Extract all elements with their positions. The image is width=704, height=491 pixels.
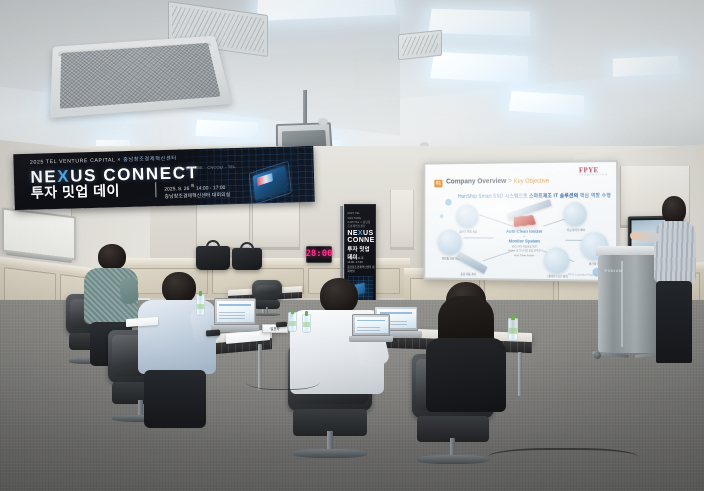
slide-headline-kr: 스마트제조 IT 솔루션의 [529,193,578,199]
banner-top-en: 2025 TEL VENTURE CAPITAL [30,157,115,165]
presenter-head [662,196,686,224]
presenter-legs [656,281,692,363]
smartphone-on-table[interactable] [206,330,220,337]
slide-core-block: Auto Clean Ionizer + Monitor System ESD … [489,214,559,258]
projector-mount-stem [303,90,307,126]
attendee-4 [424,282,508,422]
slide-core-detail3: Auto Clean Ionizer [489,254,559,258]
water-bottle-4[interactable] [508,318,518,341]
slide-company-logo: FPYE CORPORATION [579,166,608,176]
whiteboard [2,207,76,260]
presentation-slide: FPYE CORPORATION 01 Company Overview > K… [425,162,616,280]
slide-section-sep: > [508,178,512,185]
presenter-torso [654,221,696,283]
attendee-1-arm [119,277,140,305]
window-blind-4[interactable] [390,190,414,250]
window-blind-3[interactable] [252,196,300,250]
laptop-bag-2[interactable] [232,248,262,270]
slide-accent-dot-1 [445,199,451,206]
water-bottle-2[interactable] [288,312,297,332]
chair-rear-1[interactable] [252,280,282,316]
floor-cable-2 [488,448,638,470]
banner-time: 14:00 - 17:00 [196,185,226,192]
countdown-timer-display: 28:00 [305,250,332,259]
event-banner: 2025 TEL VENTURE CAPITAL × 충남창조경제혁신센터 NE… [13,146,314,210]
slide-section-number: 01 [434,180,442,188]
rollup-title-pre: NE [347,230,358,237]
ac-cassette-left [50,36,232,118]
rollup-place: 충남창조경제혁신센터 대회의실 [347,266,375,275]
led-panel-2 [429,9,531,36]
slide-headline-pre: HanShip Smart ESD 시스템으로 [458,194,528,200]
led-panel-3 [430,52,528,83]
ceiling-speaker [318,118,328,125]
banner-date-block: 2025. 8. 26 화 14:00 - 17:00 충남창조경제혁신센터 대… [164,182,230,201]
led-panel-9 [613,56,680,77]
rollup-date-block: 2025. 8. 26 화 14:00 - 17:00 충남창조경제혁신센터 대… [347,257,375,275]
rollup-title-line2: CONNECT [347,237,376,244]
slide-node-label-5: 공정 자동 관리 [447,272,489,276]
laptop-bag-1[interactable] [196,246,230,270]
lectern-brand-label: PODIUM [605,269,623,273]
presenter [652,196,698,364]
lectern-caster-left [594,352,601,359]
slide-node-top-left [456,205,478,228]
ceiling [0,0,704,152]
slide-core-line2: Monitor System [489,239,559,245]
floor-cable [246,370,320,390]
rollup-top-line: 2025 TEL VENTURE CAPITAL × 충남창조경제혁신센터 [347,212,372,230]
banner-divider [155,183,156,198]
attendee-4-torso [426,338,506,412]
slide-headline: HanShip Smart ESD 시스템으로 스마트제조 IT 솔루션의 핵심… [458,192,611,200]
slide-node-top-right [563,202,586,226]
slide-core-shape [514,215,536,227]
slide-device-bar-left [456,251,487,274]
attendee-2-legs [144,370,206,428]
banner-date: 2025. 8. 26 [164,186,189,193]
water-bottle-3[interactable] [302,314,311,333]
remote-on-table[interactable] [276,322,287,328]
banner-chip-icon [253,165,288,200]
slide-logo-sub: CORPORATION [579,173,608,176]
banner-date-day: 화 [191,183,195,188]
led-panel-6 [195,120,258,139]
banner-top-kr: 충남창조경제혁신센터 [123,156,177,163]
slide-core-detail2: Ionizer 및 모니터링 통합 솔루션 [489,250,559,254]
slide-section-title-text: Company Overview [446,178,506,185]
attendee-3-head [320,278,358,314]
slide-headline-post: 핵심 역할 수행 [580,193,611,199]
seminar-room-photo: 2025 TEL VENTURE CAPITAL × 충남창조경제혁신센터 NE… [0,0,704,491]
rollup-title-post: US [363,230,374,237]
rollup-title: NEXUS CONNECT [347,230,376,245]
laptop-center-rear[interactable] [352,314,390,342]
projection-screen: FPYE CORPORATION 01 Company Overview > K… [423,160,618,282]
ceiling-vent-2 [398,30,442,61]
slide-section-title: Company Overview > Key Objective [446,178,549,186]
slide-accent-dot-3 [440,214,444,218]
countdown-timer[interactable]: 28:00 [306,246,332,263]
slide-section-key: Key Objective [514,179,549,185]
water-bottle-1[interactable] [196,294,205,316]
slide-node-left [438,230,462,255]
attendee-1-head [98,244,126,270]
banner-title-kr: 투자 밋업 데이 [31,184,120,200]
laptop-attendee-2[interactable] [214,298,256,332]
attendee-3 [290,278,386,428]
banner-top-sep: × [117,157,121,163]
table-center-leg-2 [518,352,522,396]
